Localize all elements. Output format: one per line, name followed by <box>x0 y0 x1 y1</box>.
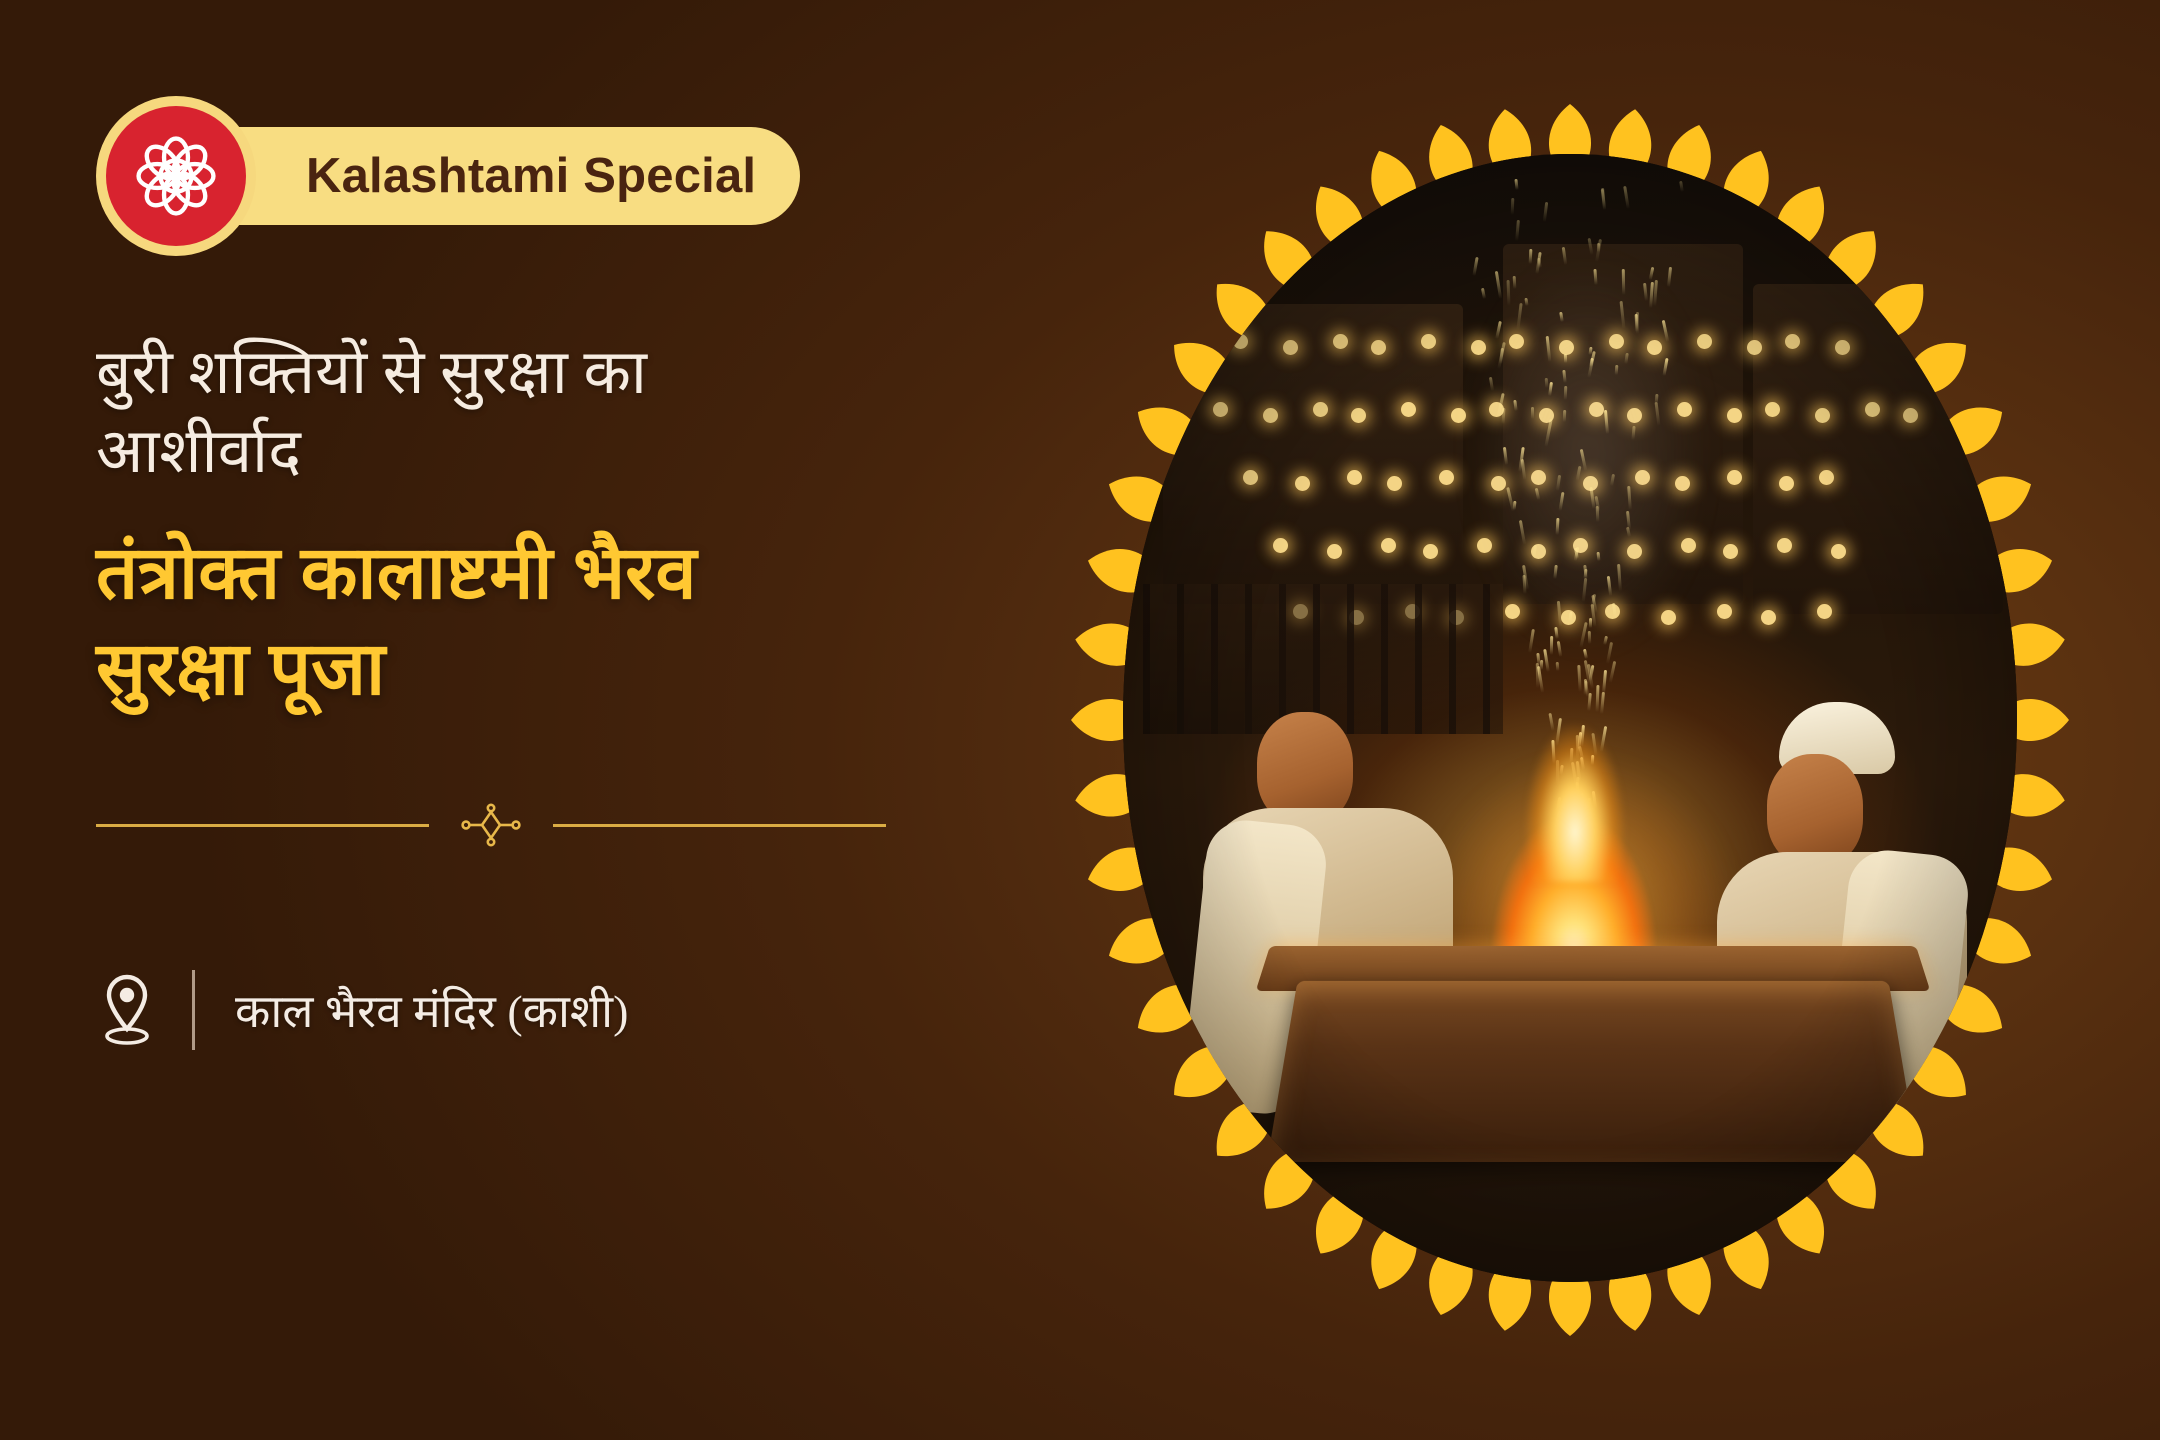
poster-title: तंत्रोक्त कालाष्टमी भैरव सुरक्षा पूजा <box>96 525 956 717</box>
left-content-column: Kalashtami Special <box>0 0 1030 1440</box>
poster-title-line-2: सुरक्षा पूजा <box>96 621 956 717</box>
ornamental-divider <box>96 803 886 847</box>
location-name: काल भैरव मंदिर (काशी) <box>235 979 628 1041</box>
location-separator <box>192 970 195 1050</box>
lotus-flower-icon <box>124 124 228 228</box>
ritual-photo <box>1123 154 2017 1282</box>
brand-logo-disc <box>106 106 246 246</box>
diamond-ornament-icon <box>455 803 527 847</box>
poster-subtitle-line-2: आशीर्वाद <box>96 413 896 492</box>
poster-subtitle-line-1: बुरी शक्तियों से सुरक्षा का <box>96 334 896 413</box>
divider-rule-right <box>553 824 886 827</box>
ritual-photo-medallion <box>1045 58 2095 1382</box>
badge-label: Kalashtami Special <box>306 152 756 201</box>
havan-scene <box>1123 154 2017 1282</box>
promo-poster: Kalashtami Special <box>0 0 2160 1440</box>
map-pin-icon <box>96 971 158 1049</box>
kalashtami-special-badge[interactable]: Kalashtami Special <box>96 96 256 256</box>
divider-ornament <box>455 803 527 847</box>
divider-rule-left <box>96 824 429 827</box>
location-row: काल भैरव मंदिर (काशी) <box>96 965 1030 1055</box>
photo-vignette <box>1123 154 2017 1282</box>
badge-pill: Kalashtami Special <box>178 127 800 225</box>
brand-logo <box>96 96 256 256</box>
poster-title-line-1: तंत्रोक्त कालाष्टमी भैरव <box>96 525 956 621</box>
poster-subtitle: बुरी शक्तियों से सुरक्षा का आशीर्वाद <box>96 334 896 493</box>
